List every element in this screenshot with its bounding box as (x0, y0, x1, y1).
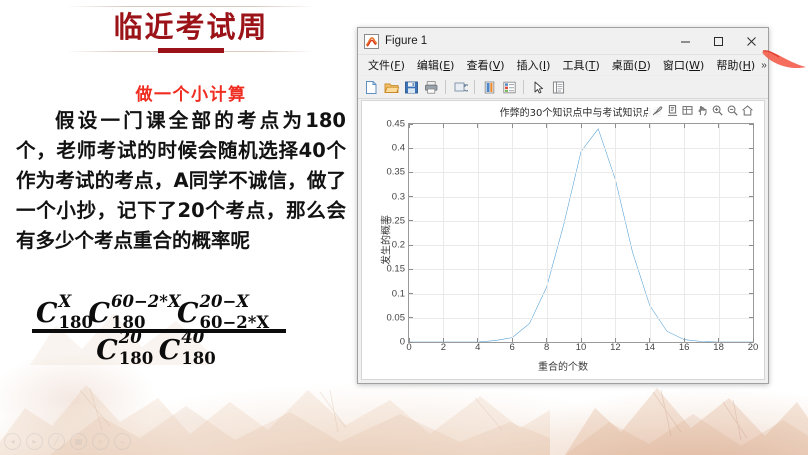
menu-tools[interactable]: 工具(T) (556, 55, 605, 75)
x-tick (649, 124, 650, 128)
formula-fraction: CX180 C60−2*X180 C20−X60−2*X C20180 C401… (32, 300, 286, 364)
new-figure-icon[interactable] (362, 78, 380, 96)
combination-superscript: 20−X (200, 294, 250, 311)
menu-view-label: 查看 (466, 59, 488, 72)
menu-file-accel: F (394, 59, 400, 72)
combination-base: C (96, 337, 118, 364)
formula-numerator: CX180 C60−2*X180 C20−X60−2*X (32, 300, 286, 328)
y-tick-label: 0.35 (387, 167, 406, 178)
combination-term: CX180 (36, 300, 88, 327)
x-tick (409, 124, 410, 128)
x-tick (684, 124, 685, 128)
edit-plot-arrow-icon[interactable] (529, 78, 547, 96)
y-tick (409, 269, 413, 270)
menu-edit-accel: E (443, 59, 450, 72)
x-tick (615, 124, 616, 128)
matlab-figure-window[interactable]: Figure 1 文件(F) 编辑(E) 查看(V) 插入(I) 工具(T) 桌… (357, 27, 769, 384)
menu-help[interactable]: 帮助(H) (710, 55, 761, 75)
menu-edit-label: 编辑 (417, 59, 439, 72)
x-tick-label: 14 (645, 342, 656, 353)
menu-window-accel: W (689, 59, 700, 72)
x-tick-label: 8 (544, 342, 549, 353)
y-gridline (409, 148, 753, 149)
menu-desktop-accel: D (638, 59, 646, 72)
menu-edit[interactable]: 编辑(E) (411, 55, 461, 75)
x-tick-label: 18 (713, 342, 724, 353)
combination-subscript: 180 (119, 351, 153, 368)
pen-tool-icon[interactable]: ╱ (48, 433, 65, 450)
y-tick (409, 124, 413, 125)
y-tick-label: 0.15 (387, 264, 406, 275)
rotate-3d-icon[interactable] (680, 103, 694, 117)
combination-base: C (89, 300, 111, 327)
minimize-button[interactable] (669, 28, 702, 54)
y-tick-label: 0.3 (392, 191, 405, 202)
y-tick (409, 172, 413, 173)
y-tick (749, 293, 753, 294)
x-gridline (684, 124, 685, 342)
combination-subscript: 60−2*X (200, 315, 270, 332)
figure-palette-icon[interactable] (549, 78, 567, 96)
combination-term: C40180 (159, 337, 221, 364)
x-tick (718, 124, 719, 128)
y-tick (749, 317, 753, 318)
chart-axes: 0246810121416182000.050.10.150.20.250.30… (408, 123, 754, 343)
x-tick-label: 6 (510, 342, 515, 353)
combination-term: C60−2*X180 (89, 300, 177, 327)
close-button[interactable] (735, 28, 768, 54)
menu-file-label: 文件 (368, 59, 390, 72)
data-tips-icon[interactable] (665, 103, 679, 117)
y-tick (749, 220, 753, 221)
x-tick-label: 4 (475, 342, 480, 353)
x-tick-label: 12 (610, 342, 621, 353)
x-tick-label: 2 (441, 342, 446, 353)
y-tick (749, 124, 753, 125)
menu-tools-accel: T (589, 59, 596, 72)
maximize-button[interactable] (702, 28, 735, 54)
x-tick (512, 124, 513, 128)
menu-insert-label: 插入 (517, 59, 539, 72)
y-gridline (409, 269, 753, 270)
axes-toolbar[interactable] (648, 102, 756, 118)
formula-denominator: C20180 C40180 (32, 335, 286, 364)
y-gridline (409, 172, 753, 173)
x-tick (581, 124, 582, 128)
title-rule-accent (158, 48, 224, 53)
y-tick (749, 245, 753, 246)
x-tick-label: 0 (406, 342, 411, 353)
zoom-in-icon[interactable] (710, 103, 724, 117)
y-tick (749, 172, 753, 173)
x-tick (546, 124, 547, 128)
window-title: Figure 1 (385, 35, 669, 47)
zoom-tool-icon[interactable]: ⌕ (92, 433, 109, 450)
open-file-icon[interactable] (382, 78, 400, 96)
zoom-out-icon[interactable] (725, 103, 739, 117)
menu-help-label: 帮助 (716, 59, 738, 72)
x-axis-label: 重合的个数 (362, 358, 764, 373)
y-tick (409, 148, 413, 149)
menu-file[interactable]: 文件(F) (362, 55, 411, 75)
figure-canvas[interactable]: 作弊的30个知识点中与考试知识点重 (361, 100, 765, 380)
menu-desktop-label: 桌面 (612, 59, 634, 72)
combination-superscript: 20 (119, 330, 142, 347)
y-tick (409, 293, 413, 294)
y-tick (749, 196, 753, 197)
combination-term: C20180 (96, 337, 158, 364)
menu-desktop[interactable]: 桌面(D) (606, 55, 657, 75)
menu-insert[interactable]: 插入(I) (511, 55, 557, 75)
x-tick-label: 10 (576, 342, 587, 353)
plot-area: 作弊的30个知识点中与考试知识点重 (362, 101, 764, 379)
slide-title-block: 临近考试周 (60, 6, 322, 54)
x-tick (753, 124, 754, 128)
combination-base: C (36, 300, 58, 327)
menu-window-label: 窗口 (663, 59, 685, 72)
toolbar-separator (523, 80, 524, 94)
save-figure-icon[interactable] (402, 78, 420, 96)
y-tick (749, 148, 753, 149)
menu-view-accel: V (493, 59, 501, 72)
y-tick (409, 342, 413, 343)
x-gridline (512, 124, 513, 342)
combination-subscript: 180 (181, 351, 215, 368)
insert-colorbar-icon[interactable] (480, 78, 498, 96)
x-gridline (615, 124, 616, 342)
presentation-slide: 临近考试周 做一个小计算 假设一门课全部的考点为180个，老师考试的时候会随机选… (0, 0, 808, 455)
next-slide-icon[interactable]: ▸ (26, 433, 43, 450)
more-options-icon[interactable]: − (114, 433, 131, 450)
section-subheading: 做一个小计算 (60, 80, 322, 105)
x-gridline (478, 124, 479, 342)
y-tick-label: 0.2 (392, 240, 405, 251)
x-tick-label: 16 (679, 342, 690, 353)
y-tick-label: 0.4 (392, 143, 405, 154)
title-rule-top (66, 6, 316, 7)
pan-icon[interactable] (695, 103, 709, 117)
combination-superscript: 40 (181, 330, 204, 347)
figure-toolbar[interactable] (358, 76, 768, 99)
x-gridline (719, 124, 720, 342)
y-tick-label: 0 (400, 337, 405, 348)
y-tick-label: 0.05 (387, 312, 406, 323)
x-tick-label: 20 (748, 342, 759, 353)
toolbar-separator (474, 80, 475, 94)
x-gridline (547, 124, 548, 342)
previous-slide-icon[interactable]: ◂ (4, 433, 21, 450)
title-rule-bottom (66, 48, 316, 54)
x-gridline (650, 124, 651, 342)
matlab-figure-icon (364, 34, 379, 49)
combination-superscript: X (59, 294, 72, 311)
toolbar-separator (445, 80, 446, 94)
combination-superscript: 60−2*X (111, 294, 181, 311)
y-tick-label: 0.45 (387, 119, 406, 130)
menu-help-accel: H (743, 59, 751, 72)
x-gridline (443, 124, 444, 342)
y-axis-label: 发生的概率 (378, 215, 393, 265)
menu-overflow-chevron-icon[interactable]: » (761, 60, 773, 71)
y-tick (409, 317, 413, 318)
page-title: 临近考试周 (60, 10, 322, 44)
y-tick (749, 269, 753, 270)
y-tick (409, 196, 413, 197)
y-tick (409, 245, 413, 246)
slideshow-controls[interactable]: ◂ ▸ ╱ ▦ ⌕ − (4, 433, 131, 450)
y-gridline (409, 221, 753, 222)
body-paragraph: 假设一门课全部的考点为180个，老师考试的时候会随机选择40个作为考试的考点，A… (16, 106, 346, 256)
brush-data-icon[interactable] (650, 103, 664, 117)
combination-base: C (159, 337, 181, 364)
menu-tools-label: 工具 (562, 59, 584, 72)
y-gridline (409, 245, 753, 246)
combination-term: C20−X60−2*X (177, 300, 281, 327)
y-gridline (409, 294, 753, 295)
insert-legend-icon[interactable] (500, 78, 518, 96)
y-gridline (409, 318, 753, 319)
x-tick (443, 124, 444, 128)
combination-base: C (177, 300, 199, 327)
y-gridline (409, 197, 753, 198)
y-tick-label: 0.1 (392, 288, 405, 299)
all-slides-icon[interactable]: ▦ (70, 433, 87, 450)
menu-bar[interactable]: 文件(F) 编辑(E) 查看(V) 插入(I) 工具(T) 桌面(D) 窗口(W… (358, 55, 768, 76)
x-tick (477, 124, 478, 128)
print-figure-icon[interactable] (422, 78, 440, 96)
x-gridline (581, 124, 582, 342)
probability-formula: CX180 C60−2*X180 C20−X60−2*X C20180 C401… (32, 300, 332, 364)
link-plot-icon[interactable] (451, 78, 469, 96)
y-tick (749, 342, 753, 343)
menu-insert-accel: I (543, 59, 546, 72)
y-tick (409, 220, 413, 221)
restore-view-icon[interactable] (740, 103, 754, 117)
menu-view[interactable]: 查看(V) (460, 55, 510, 75)
menu-window[interactable]: 窗口(W) (657, 55, 710, 75)
window-titlebar[interactable]: Figure 1 (358, 28, 768, 55)
